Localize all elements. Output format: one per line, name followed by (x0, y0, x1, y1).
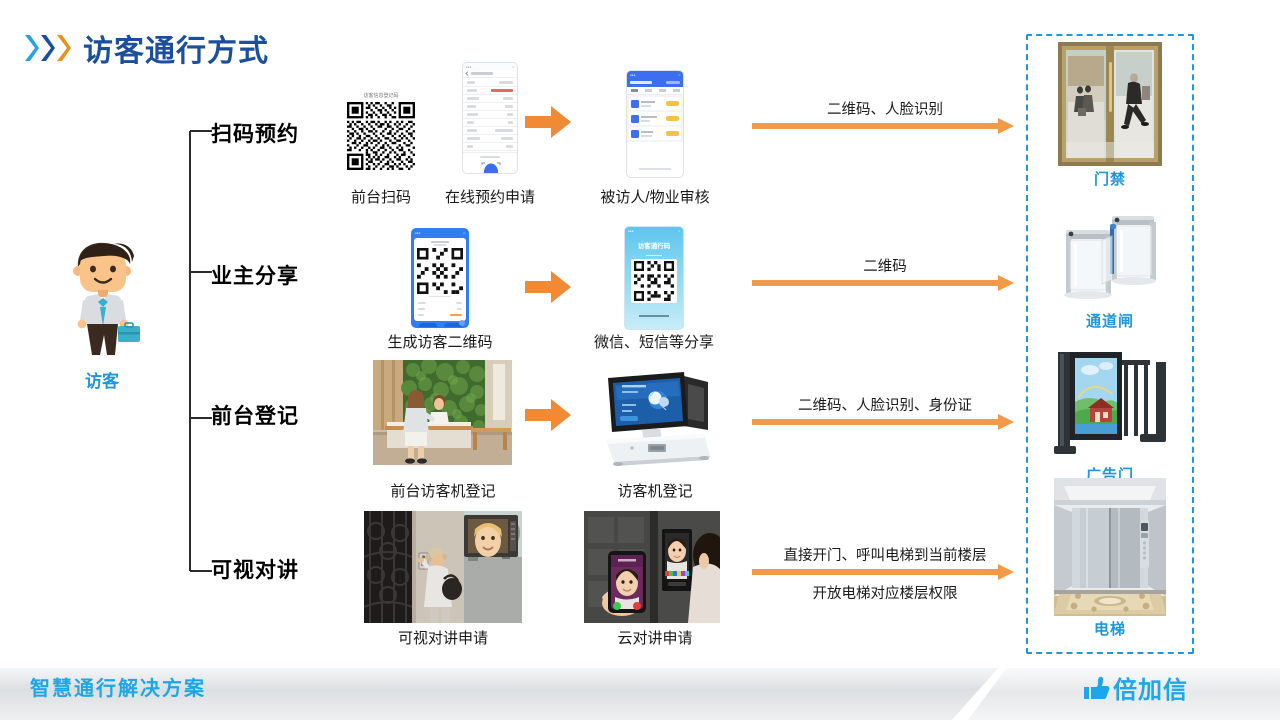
arrow-label-secondary: 开放电梯对应楼层权限 (750, 582, 1020, 603)
phone-info-lines (625, 305, 683, 330)
step-arrow-icon (525, 398, 571, 432)
phone-mockup-booking-form: ●●●□ (462, 62, 518, 174)
phone-nav-bar (463, 70, 517, 78)
arrow-label: 二维码、人脸识别、身份证 (750, 394, 1020, 415)
branch-label-owner-share: 业主分享 (211, 260, 299, 290)
flow-arrow-icon (752, 275, 1014, 291)
phone-status-bar: ●●●□ (627, 71, 683, 78)
step-caption: 生成访客二维码 (370, 331, 510, 352)
qr-pattern-icon (417, 248, 463, 294)
phone-qr-card (414, 238, 466, 321)
phone-approval-rows (627, 95, 683, 142)
brand-logo: 倍加信 (1082, 670, 1188, 705)
phone-home-dot (459, 320, 465, 326)
businessman-icon (52, 238, 152, 358)
access-control-door-illustration (1058, 42, 1162, 166)
qr-pattern-icon (633, 261, 675, 301)
qr-pattern-icon (343, 102, 419, 170)
phone-mockup-approval-list: ●●●□ (626, 70, 684, 178)
step-caption: 被访人/物业审核 (590, 186, 720, 207)
chevron-right-icon-1 (24, 33, 39, 63)
step-caption: 前台访客机登记 (363, 480, 523, 501)
video-intercom-illustration (364, 511, 522, 623)
phone-qr-card (631, 259, 677, 303)
list-item[interactable] (629, 112, 681, 125)
video-intercom-photo (364, 511, 522, 623)
phone-status-bar: ●●●□ (463, 63, 517, 70)
phone-mockup-pass-code: ●●●□ 访客通行码 (624, 226, 684, 330)
chevron-right-icon-3 (56, 33, 71, 63)
branch-bracket (188, 130, 212, 572)
chevron-group-icon (24, 33, 71, 63)
step-arrow-icon (525, 105, 571, 139)
branch-label-reception-register: 前台登记 (211, 400, 299, 430)
advertising-gate-illustration (1052, 350, 1168, 462)
device-label: 通道闸 (1026, 310, 1194, 331)
list-item[interactable] (629, 127, 681, 140)
arrow-label: 二维码 (750, 255, 1020, 276)
visitor-kiosk-photo (592, 368, 718, 468)
slide-canvas: 访客通行方式 (0, 0, 1280, 720)
qr-code-front-desk: 访客信息登记码 (341, 92, 421, 172)
flow-arrow-icon (752, 414, 1014, 430)
device-item-elevator: 电梯 (1026, 478, 1194, 639)
phone-form-rows (463, 78, 517, 152)
qr-mini-title: 访客信息登记码 (341, 92, 421, 99)
phone-screen-title: 访客通行码 (625, 235, 683, 253)
footer-slogan: 智慧通行解决方案 (30, 672, 206, 701)
step-caption: 前台扫码 (341, 186, 421, 207)
flow-arrow-icon (752, 564, 1014, 580)
branch-label-video-intercom: 可视对讲 (211, 554, 299, 584)
step-arrow-icon (525, 270, 571, 304)
list-item[interactable] (629, 97, 681, 110)
device-item-advertising-gate: 广告门 (1026, 350, 1194, 485)
step-caption: 云对讲申请 (590, 627, 720, 648)
brand-name: 倍加信 (1113, 670, 1188, 705)
device-label: 门禁 (1026, 168, 1194, 189)
arrow-label: 直接开门、呼叫电梯到当前楼层 (750, 544, 1020, 565)
phone-footer-note (627, 157, 683, 175)
step-caption: 可视对讲申请 (364, 627, 522, 648)
elevator-illustration (1054, 478, 1166, 616)
device-item-turnstile: 通道闸 (1026, 196, 1194, 331)
step-caption: 在线预约申请 (430, 186, 550, 207)
cloud-intercom-photo (584, 511, 720, 623)
page-title: 访客通行方式 (24, 26, 269, 70)
reception-desk-illustration (373, 360, 512, 465)
turnstile-gate-illustration (1054, 196, 1166, 308)
phone-app-header (627, 78, 683, 87)
chevron-right-icon-2 (40, 33, 55, 63)
flow-arrow-icon (752, 118, 1014, 134)
reception-desk-photo (373, 360, 512, 465)
visitor-figure: 访客 (52, 238, 152, 392)
branch-label-scan-booking: 扫码预约 (211, 118, 299, 148)
arrow-label: 二维码、人脸识别 (750, 98, 1020, 119)
page-title-text: 访客通行方式 (83, 26, 269, 70)
phone-filter-tabs[interactable] (627, 87, 683, 95)
phone-status-bar: ●●●□ (412, 229, 468, 236)
cloud-intercom-illustration (584, 511, 720, 623)
step-caption: 访客机登记 (590, 480, 720, 501)
thumbs-up-icon (1082, 675, 1110, 701)
phone-status-bar: ●●●□ (625, 227, 683, 234)
phone-mockup-generate-qr: ●●●□ (411, 228, 469, 328)
fingerprint-submit-icon[interactable] (463, 161, 518, 174)
device-label: 电梯 (1026, 618, 1194, 639)
visitor-kiosk-illustration (592, 368, 718, 468)
visitor-label: 访客 (52, 367, 152, 392)
step-caption: 微信、短信等分享 (586, 331, 722, 352)
phone-submit-area[interactable] (463, 152, 517, 174)
device-item-access-control: 门禁 (1026, 42, 1194, 189)
